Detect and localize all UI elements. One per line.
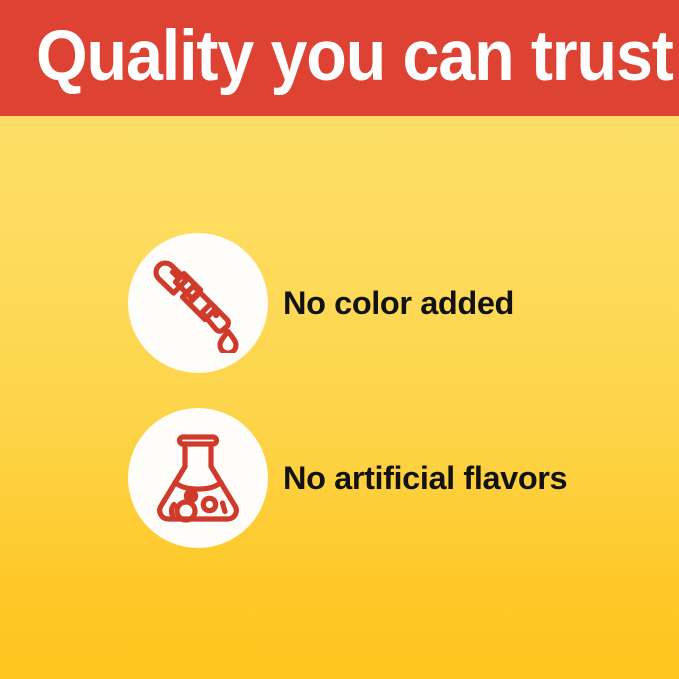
feature-label: No color added [283,285,514,321]
quality-infographic: Quality you can trust [0,0,679,679]
icon-circle [128,408,268,548]
flask-icon [148,428,248,528]
feature-label: No artificial flavors [283,460,567,496]
dropper-icon [148,253,248,353]
feature-item-no-color-added: No color added [128,233,648,373]
page-title: Quality you can trust [36,19,616,95]
header-banner: Quality you can trust [0,0,679,116]
feature-item-no-artificial-flavors: No artificial flavors [128,408,648,548]
icon-circle [128,233,268,373]
